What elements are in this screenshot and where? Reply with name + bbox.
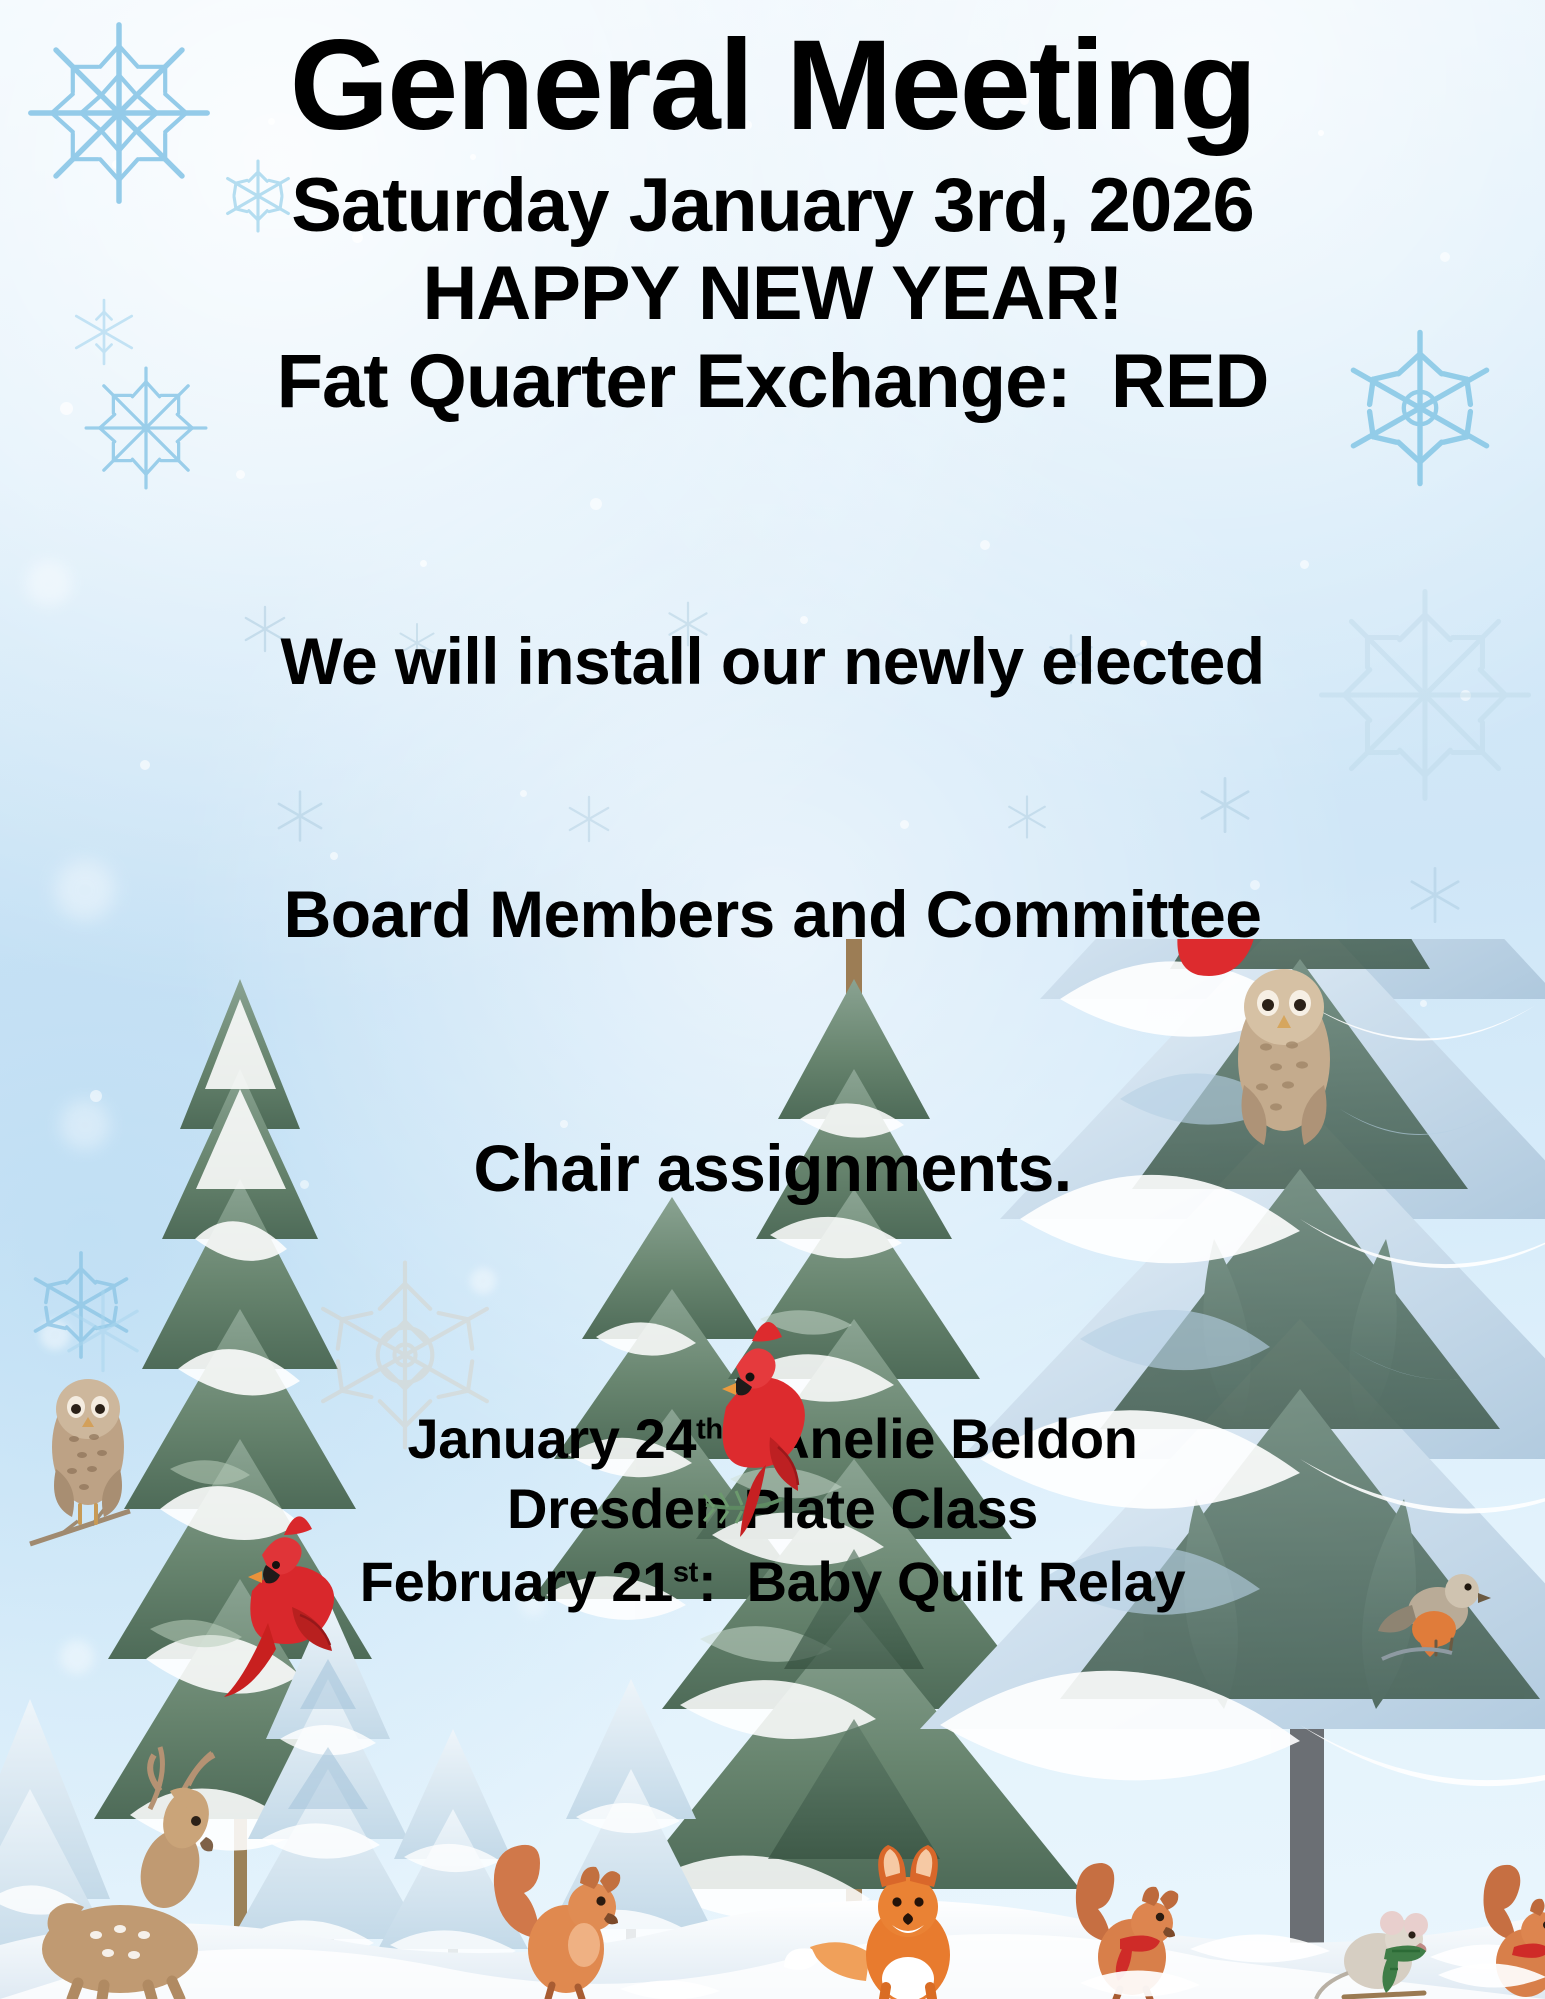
event-3-separator: :: [698, 1550, 747, 1613]
event-1-separator: :: [723, 1407, 770, 1470]
event-3-ordinal: st: [673, 1556, 698, 1588]
event-1-date: January 24: [407, 1407, 696, 1470]
event-row-3: February 21st: Baby Quilt Relay: [0, 1548, 1545, 1616]
event-1-detail: Anelie Beldon: [769, 1407, 1137, 1470]
event-3-detail: Baby Quilt Relay: [747, 1550, 1186, 1613]
announcement-body: We will install our newly elected Board …: [0, 450, 1545, 1379]
event-3-date: February 21: [360, 1550, 673, 1613]
new-year-greeting: HAPPY NEW YEAR!: [0, 256, 1545, 332]
event-1-ordinal: th: [696, 1414, 723, 1446]
fat-quarter-exchange: Fat Quarter Exchange: RED: [0, 344, 1545, 420]
announcement-line-3: Chair assignments.: [0, 1126, 1545, 1210]
announcement-line-2: Board Members and Committee: [0, 872, 1545, 956]
event-2-detail: Dresden Plate Class: [507, 1477, 1038, 1540]
page-title: General Meeting: [0, 22, 1545, 150]
event-row-2: Dresden Plate Class: [0, 1475, 1545, 1543]
event-row-1: January 24th : Anelie Beldon: [0, 1405, 1545, 1473]
poster-canvas: General Meeting Saturday January 3rd, 20…: [0, 0, 1545, 1999]
poster-text-block: General Meeting Saturday January 3rd, 20…: [0, 0, 1545, 1616]
meeting-date: Saturday January 3rd, 2026: [0, 168, 1545, 244]
announcement-line-1: We will install our newly elected: [0, 619, 1545, 703]
